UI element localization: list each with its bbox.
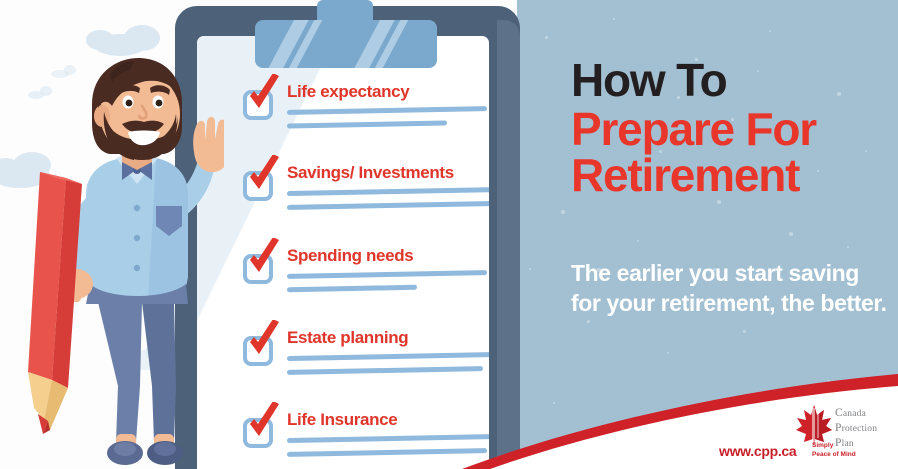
logo-tagline-line1: Simply xyxy=(812,442,856,451)
panel-speck xyxy=(667,352,669,354)
writing-rule xyxy=(287,434,489,443)
writing-rule xyxy=(287,187,489,196)
checklist-item[interactable]: Estate planning xyxy=(243,328,489,390)
panel-speck xyxy=(545,36,548,39)
writing-rule xyxy=(287,352,489,361)
panel-speck xyxy=(705,420,709,424)
logo-word-canada: Canada xyxy=(835,406,877,421)
panel-speck xyxy=(779,398,782,401)
checklist-label: Estate planning xyxy=(287,328,408,348)
clipboard-right-edge xyxy=(497,20,520,469)
checklist-label: Life Insurance xyxy=(287,410,397,430)
logo-word-protection: Protection xyxy=(835,421,877,436)
panel-speck xyxy=(553,402,555,404)
clipboard-paper: Life expectancy Savings/ Investments xyxy=(197,36,489,469)
headline-line-1: How To xyxy=(571,58,891,103)
logo-tagline: Simply Peace of Mind xyxy=(812,442,856,460)
poster-canvas: Life expectancy Savings/ Investments xyxy=(0,0,898,469)
panel-speck xyxy=(637,240,639,242)
checklist-item[interactable]: Savings/ Investments xyxy=(243,163,489,225)
panel-speck xyxy=(743,330,746,333)
checkmark-icon xyxy=(245,320,283,362)
panel-speck xyxy=(613,18,615,20)
writing-rule xyxy=(287,201,489,210)
panel-speck xyxy=(827,380,830,383)
checkmark-icon xyxy=(245,238,283,280)
checklist-label: Spending needs xyxy=(287,246,413,266)
writing-rule xyxy=(287,366,483,375)
checklist-label: Life expectancy xyxy=(287,82,409,102)
clipboard-clip xyxy=(255,20,437,68)
writing-rule xyxy=(287,270,487,279)
giant-pencil xyxy=(12,168,98,436)
subheadline: The earlier you start saving for your re… xyxy=(571,258,889,319)
panel-speck xyxy=(847,246,849,248)
checkmark-icon xyxy=(245,402,283,444)
writing-rule xyxy=(287,120,447,128)
headline-block: How To Prepare For Retirement xyxy=(571,58,891,198)
writing-rule xyxy=(287,448,487,457)
checklist-item[interactable]: Spending needs xyxy=(243,246,489,308)
checklist-item[interactable]: Life Insurance xyxy=(243,410,489,469)
writing-rule xyxy=(287,106,487,115)
panel-speck xyxy=(769,30,771,32)
panel-speck xyxy=(587,320,590,323)
checkmark-icon xyxy=(245,155,283,197)
logo-tagline-line2: Peace of Mind xyxy=(812,451,856,460)
headline-line-2: Prepare For xyxy=(571,107,891,152)
panel-speck xyxy=(789,232,793,236)
panel-speck xyxy=(561,210,565,214)
clipboard: Life expectancy Savings/ Investments xyxy=(175,6,520,469)
website-url[interactable]: www.cpp.ca xyxy=(719,443,796,459)
checklist-label: Savings/ Investments xyxy=(287,163,454,183)
writing-rule xyxy=(287,285,417,292)
canada-protection-plan-logo[interactable]: Canada Protection Plan Simply Peace of M… xyxy=(795,404,895,460)
checklist-item[interactable]: Life expectancy xyxy=(243,82,489,144)
maple-leaf-icon xyxy=(795,404,833,446)
checkmark-icon xyxy=(245,74,283,116)
headline-line-3: Retirement xyxy=(571,153,891,198)
panel-speck xyxy=(625,440,627,442)
